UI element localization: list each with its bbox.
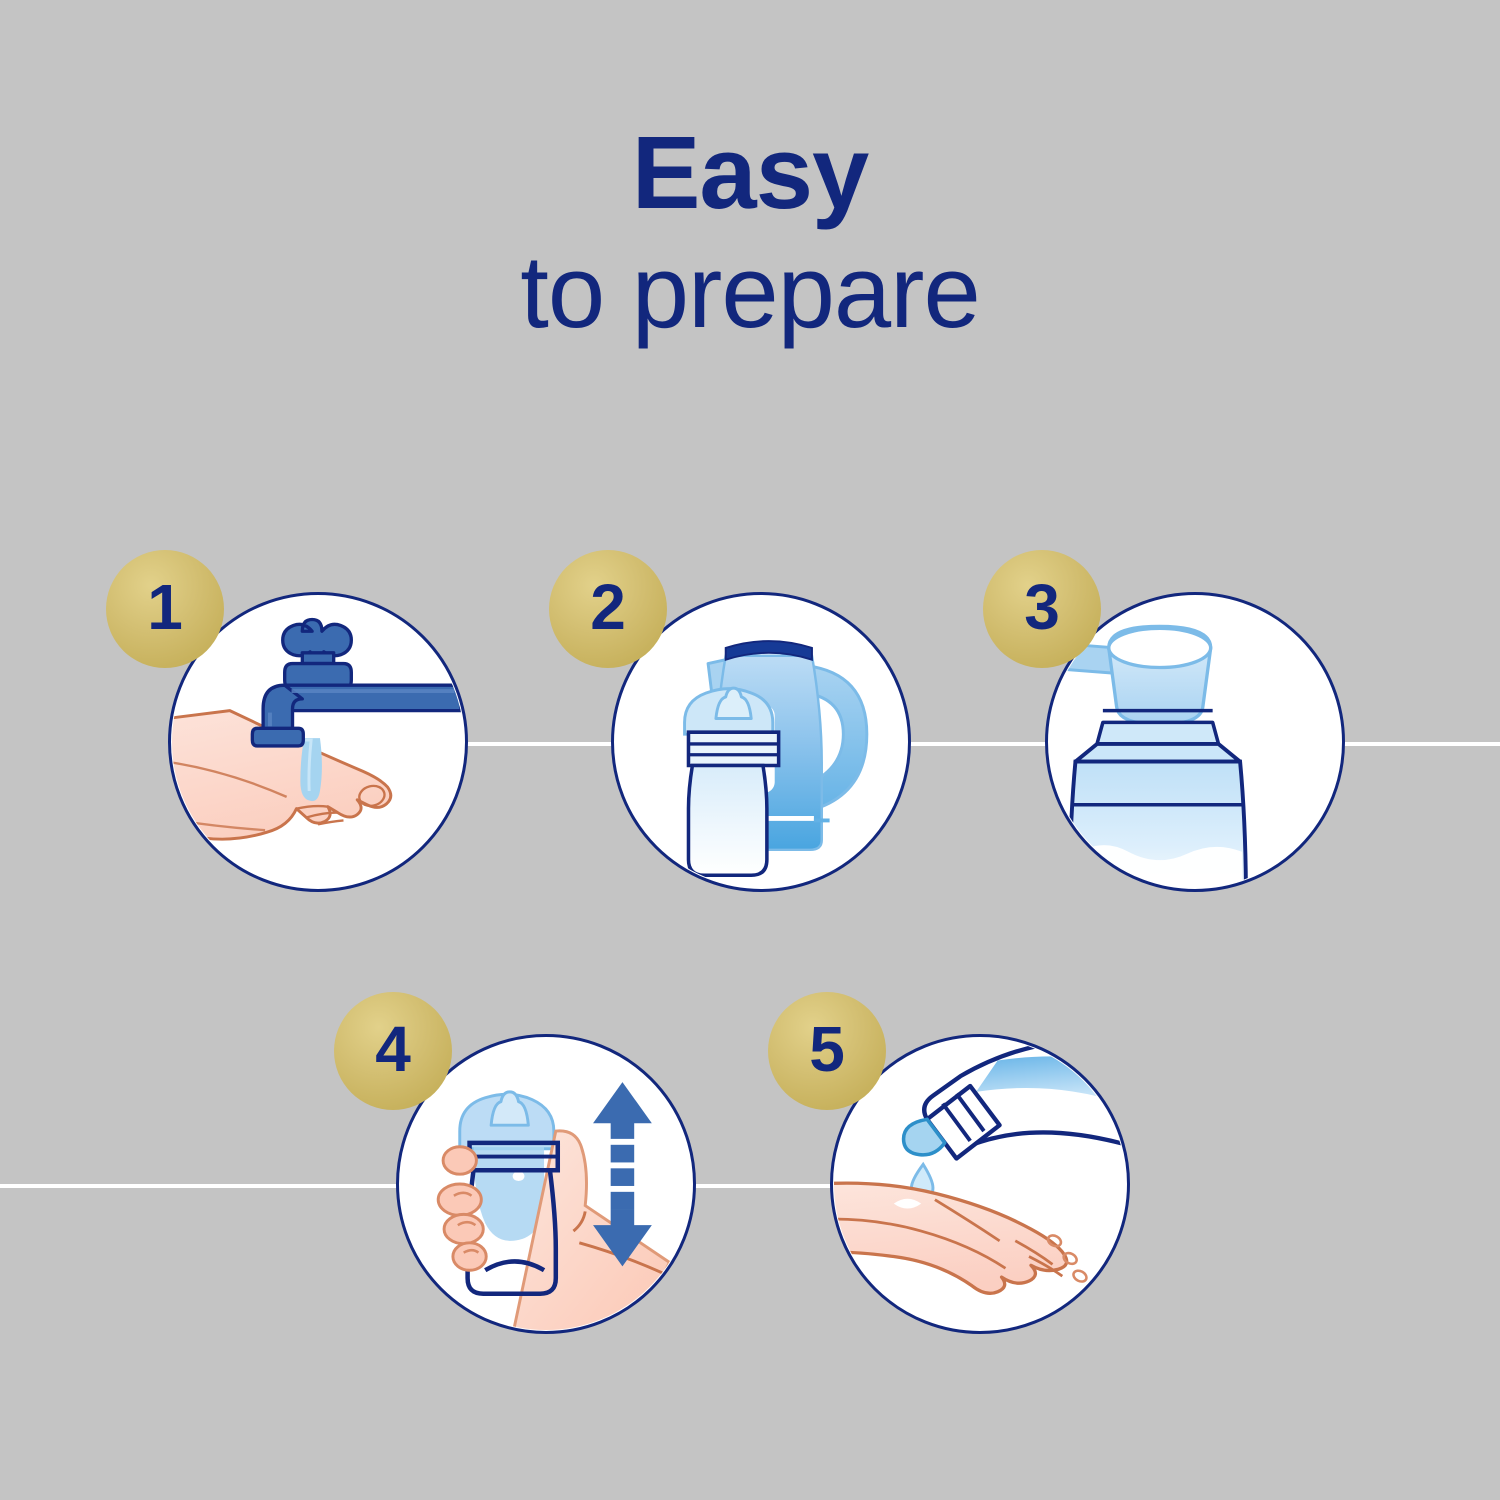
step-5-badge: 5 (768, 992, 886, 1110)
page-title: Easy to prepare (0, 118, 1500, 346)
step-item-1[interactable]: 1 (168, 592, 468, 892)
step-1-number: 1 (147, 575, 183, 639)
step-2-number: 2 (590, 575, 626, 639)
step-item-2[interactable]: 2 (611, 592, 911, 892)
step-item-5[interactable]: 5 (830, 1034, 1130, 1334)
step-2-badge: 2 (549, 550, 667, 668)
step-1-badge: 1 (106, 550, 224, 668)
step-4-number: 4 (375, 1017, 411, 1081)
step-3-number: 3 (1024, 575, 1060, 639)
infographic-canvas: Easy to prepare (0, 0, 1500, 1500)
title-line-2: to prepare (0, 237, 1500, 346)
title-line-1: Easy (0, 118, 1500, 227)
step-item-4[interactable]: 4 (396, 1034, 696, 1334)
step-5-number: 5 (809, 1017, 845, 1081)
step-3-badge: 3 (983, 550, 1101, 668)
step-4-badge: 4 (334, 992, 452, 1110)
step-item-3[interactable]: 3 (1045, 592, 1345, 892)
